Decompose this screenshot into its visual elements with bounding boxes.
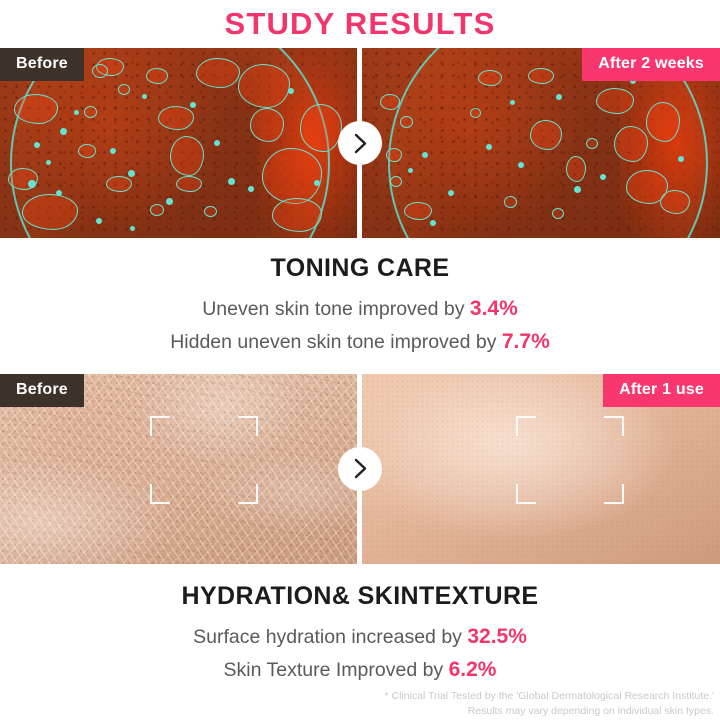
caption-toning: TONING CARE Uneven skin tone improved by… xyxy=(0,238,720,358)
page-title: STUDY RESULTS xyxy=(0,0,720,48)
stat-text: Uneven skin tone improved by xyxy=(202,298,470,320)
disclaimer-footnote: * Clinical Trial Tested by the 'Global D… xyxy=(385,689,714,721)
caption-hydration: HYDRATION& SKINTEXTURE Surface hydration… xyxy=(0,564,720,686)
chevron-right-icon xyxy=(338,447,382,491)
badge-after-hydration: After 1 use xyxy=(603,374,720,407)
after-image-toning: After 2 weeks xyxy=(360,48,720,238)
section-heading-toning: TONING CARE xyxy=(0,254,720,283)
footnote-line-2: Results may vary depending on individual… xyxy=(385,704,714,720)
focus-brackets xyxy=(150,416,258,504)
section-heading-hydration: HYDRATION& SKINTEXTURE xyxy=(0,582,720,611)
badge-before-toning: Before xyxy=(0,48,84,81)
before-image-hydration: Before xyxy=(0,374,360,564)
footnote-line-1: * Clinical Trial Tested by the 'Global D… xyxy=(385,689,714,705)
chevron-right-icon xyxy=(338,121,382,165)
stat-line: Hidden uneven skin tone improved by 7.7% xyxy=(0,327,720,357)
badge-after-toning: After 2 weeks xyxy=(582,48,720,81)
focus-brackets xyxy=(516,416,624,504)
stat-value: 3.4% xyxy=(470,297,518,320)
stat-text: Hidden uneven skin tone improved by xyxy=(170,331,502,353)
stat-value: 6.2% xyxy=(449,658,497,681)
stat-line: Surface hydration increased by 32.5% xyxy=(0,622,720,652)
stat-line: Skin Texture Improved by 6.2% xyxy=(0,655,720,685)
comparison-block-hydration: Before After 1 use xyxy=(0,374,720,564)
stat-value: 7.7% xyxy=(502,330,550,353)
after-image-hydration: After 1 use xyxy=(360,374,720,564)
stat-value: 32.5% xyxy=(467,625,527,648)
comparison-block-toning: Before xyxy=(0,48,720,238)
stat-text: Surface hydration increased by xyxy=(193,626,467,648)
study-results-infographic: STUDY RESULTS xyxy=(0,0,720,722)
before-image-toning: Before xyxy=(0,48,360,238)
stat-line: Uneven skin tone improved by 3.4% xyxy=(0,294,720,324)
stat-text: Skin Texture Improved by xyxy=(224,659,449,681)
badge-before-hydration: Before xyxy=(0,374,84,407)
